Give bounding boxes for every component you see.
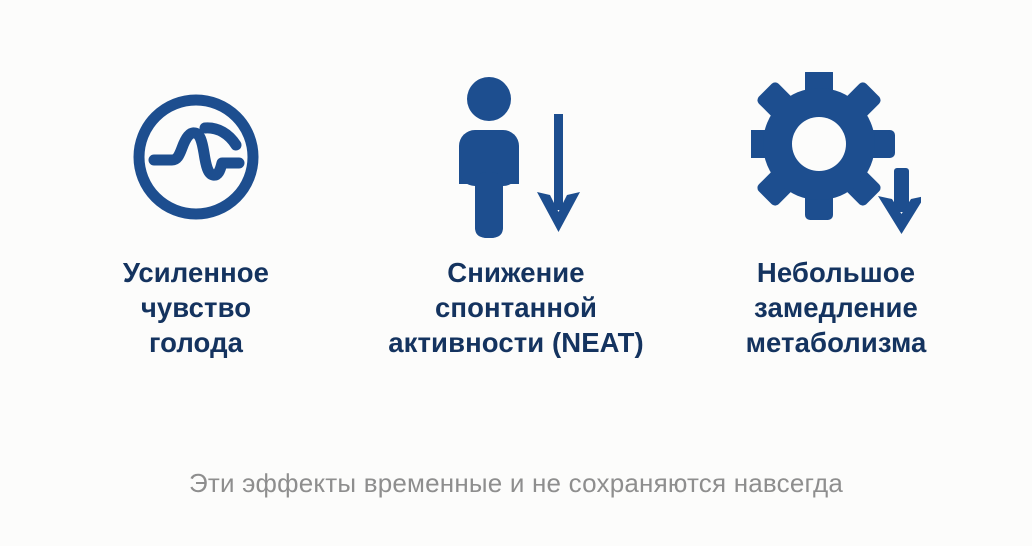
- card-slower-metabolism: Небольшое замедление метаболизма: [676, 72, 996, 361]
- card-label: Небольшое замедление метаболизма: [746, 256, 927, 361]
- card-label: Снижение спонтанной активности (NEAT): [388, 256, 644, 361]
- gear-down-arrow-icon: [751, 72, 921, 242]
- card-label: Усиленное чувство голода: [123, 256, 269, 361]
- pulse-circle-icon: [126, 87, 266, 227]
- card-icon-container: [126, 72, 266, 242]
- cards-row: Усиленное чувство голода Снижение спонта…: [0, 0, 1032, 361]
- person-down-arrow-icon: [441, 72, 591, 242]
- card-icon-container: [441, 72, 591, 242]
- card-reduced-neat: Снижение спонтанной активности (NEAT): [356, 72, 676, 361]
- card-increased-hunger: Усиленное чувство голода: [36, 72, 356, 361]
- slide-root: Усиленное чувство голода Снижение спонта…: [0, 0, 1032, 546]
- card-icon-container: [751, 72, 921, 242]
- footer-caption-container: Эти эффекты временные и не сохраняются н…: [0, 468, 1032, 499]
- footer-caption: Эти эффекты временные и не сохраняются н…: [189, 468, 843, 499]
